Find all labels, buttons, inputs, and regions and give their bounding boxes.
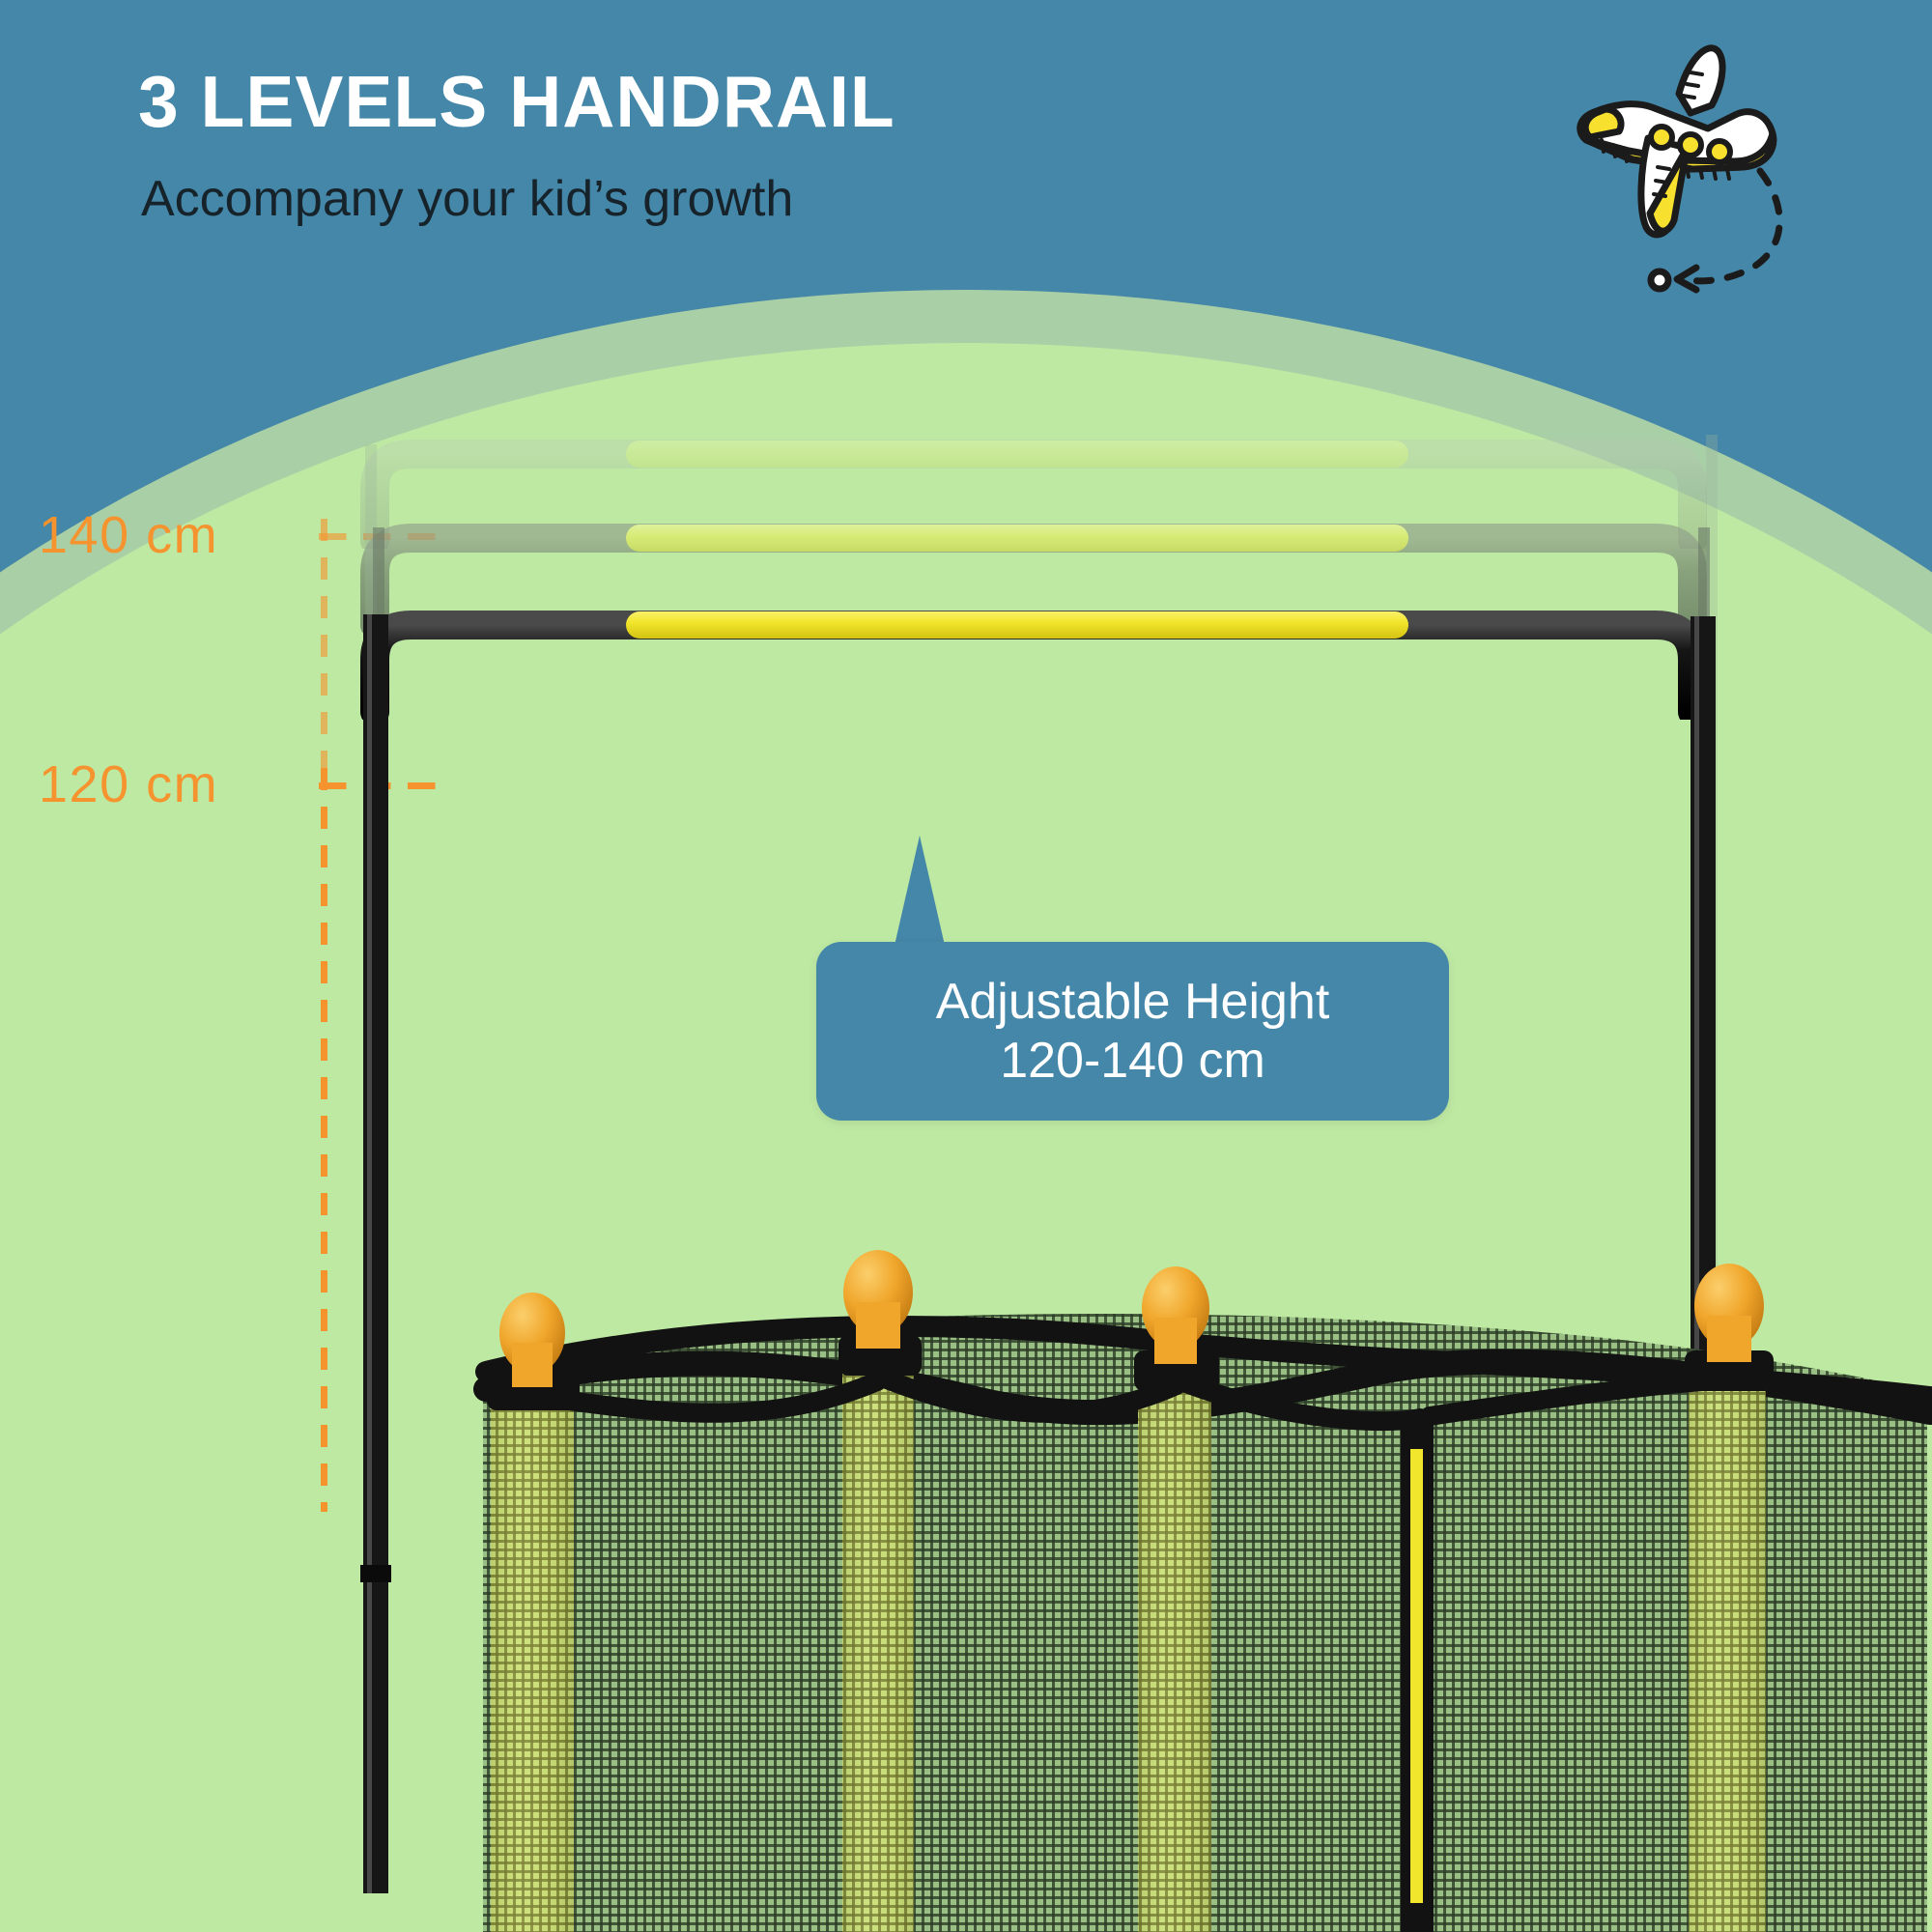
page-subtitle: Accompany your kid’s growth (141, 174, 793, 224)
callout-pointer (894, 836, 946, 950)
infographic-canvas: 3 LEVELS HANDRAIL Accompany your kid’s g… (0, 0, 1932, 1932)
trampoline-enclosure-net (0, 1227, 1932, 1932)
measurement-guide-vertical-upper (321, 519, 327, 770)
callout-line-1: Adjustable Height (936, 973, 1330, 1031)
measurement-label-140: 140 cm (39, 509, 218, 561)
callout-line-2: 120-140 cm (1000, 1032, 1265, 1090)
handrail-level-lowest (357, 604, 1710, 720)
airplane-doodle-icon (1536, 24, 1922, 304)
page-title: 3 LEVELS HANDRAIL (138, 66, 895, 138)
net-zipper (1410, 1449, 1423, 1903)
adjustable-height-callout: Adjustable Height 120-140 cm (816, 942, 1449, 1121)
measurement-label-120: 120 cm (39, 758, 218, 810)
